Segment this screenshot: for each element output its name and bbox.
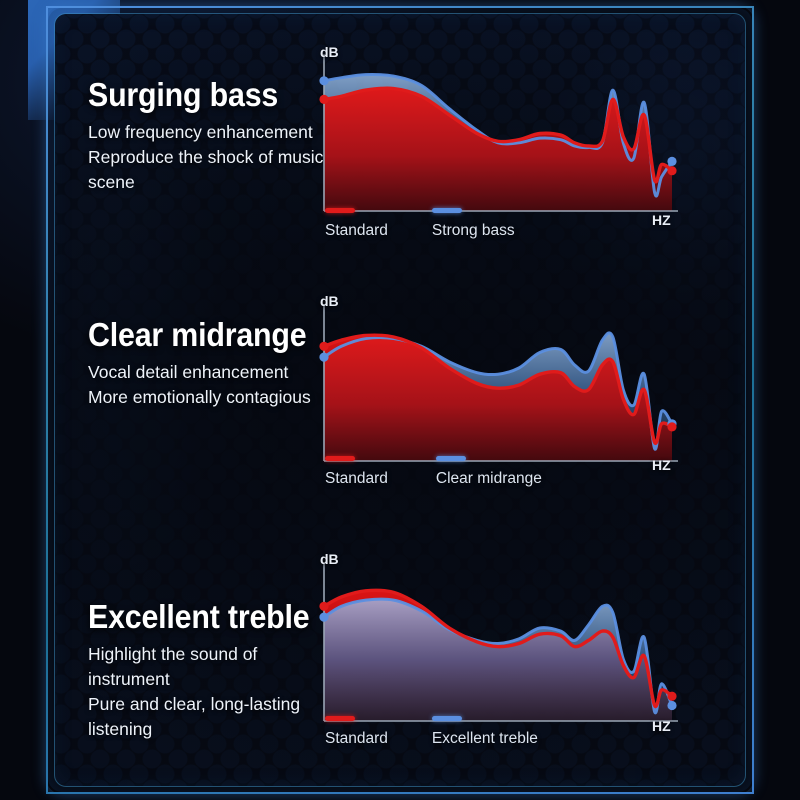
legend-item[interactable]: Standard bbox=[325, 716, 388, 748]
y-axis-label: dB bbox=[320, 551, 339, 567]
standard-end-dot bbox=[667, 692, 676, 701]
legend-item[interactable]: Strong bass bbox=[432, 208, 515, 240]
eq-curve-chart bbox=[318, 562, 680, 727]
feature-description: Vocal detail enhancement More emotionall… bbox=[88, 360, 325, 410]
legend-label: Strong bass bbox=[432, 222, 515, 240]
feature-copy-2: Clear midrange Vocal detail enhancement … bbox=[88, 318, 325, 410]
feature-headline: Excellent treble bbox=[88, 600, 309, 633]
feature-rows: Surging bass Low frequency enhancement R… bbox=[0, 0, 800, 800]
eq-curve-chart bbox=[318, 302, 680, 467]
chart-legend: Standard Strong bass bbox=[325, 208, 515, 240]
chart-block-1 bbox=[318, 52, 680, 217]
y-axis-label: dB bbox=[320, 293, 339, 309]
feature-start-dot bbox=[319, 353, 328, 362]
feature-copy-3: Excellent treble Highlight the sound of … bbox=[88, 600, 329, 741]
legend-label: Standard bbox=[325, 730, 388, 748]
legend-label: Excellent treble bbox=[432, 730, 538, 748]
feature-description: Highlight the sound of instrument Pure a… bbox=[88, 642, 329, 741]
feature-headline: Clear midrange bbox=[88, 318, 306, 351]
legend-swatch-blue bbox=[432, 208, 462, 213]
standard-area bbox=[324, 88, 672, 211]
x-axis-label: HZ bbox=[652, 457, 671, 473]
legend-label: Standard bbox=[325, 222, 388, 240]
chart-legend: Standard Excellent treble bbox=[325, 716, 538, 748]
legend-label: Clear midrange bbox=[436, 470, 542, 488]
legend-item[interactable]: Clear midrange bbox=[436, 456, 542, 488]
legend-item[interactable]: Standard bbox=[325, 208, 388, 240]
feature-description: Low frequency enhancement Reproduce the … bbox=[88, 120, 323, 195]
legend-item[interactable]: Excellent treble bbox=[432, 716, 538, 748]
standard-end-dot bbox=[667, 166, 676, 175]
standard-start-dot bbox=[319, 95, 328, 104]
feature-headline: Surging bass bbox=[88, 78, 305, 111]
legend-swatch-red bbox=[325, 716, 355, 721]
x-axis-label: HZ bbox=[652, 718, 671, 734]
feature-start-dot bbox=[319, 76, 328, 85]
feature-panel: Surging bass Low frequency enhancement R… bbox=[0, 0, 800, 800]
legend-swatch-blue bbox=[436, 456, 466, 461]
y-axis-label: dB bbox=[320, 44, 339, 60]
standard-start-dot bbox=[319, 602, 328, 611]
chart-block-2 bbox=[318, 302, 680, 467]
feature-start-dot bbox=[319, 613, 328, 622]
chart-legend: Standard Clear midrange bbox=[325, 456, 542, 488]
standard-area bbox=[324, 335, 672, 461]
standard-start-dot bbox=[319, 342, 328, 351]
legend-label: Standard bbox=[325, 470, 388, 488]
eq-curve-chart bbox=[318, 52, 680, 217]
legend-swatch-red bbox=[325, 208, 355, 213]
legend-item[interactable]: Standard bbox=[325, 456, 388, 488]
legend-swatch-blue bbox=[432, 716, 462, 721]
x-axis-label: HZ bbox=[652, 212, 671, 228]
chart-block-3 bbox=[318, 562, 680, 727]
feature-end-dot bbox=[667, 157, 676, 166]
feature-copy-1: Surging bass Low frequency enhancement R… bbox=[88, 78, 323, 195]
standard-end-dot bbox=[667, 422, 676, 431]
feature-end-dot bbox=[667, 701, 676, 710]
legend-swatch-red bbox=[325, 456, 355, 461]
